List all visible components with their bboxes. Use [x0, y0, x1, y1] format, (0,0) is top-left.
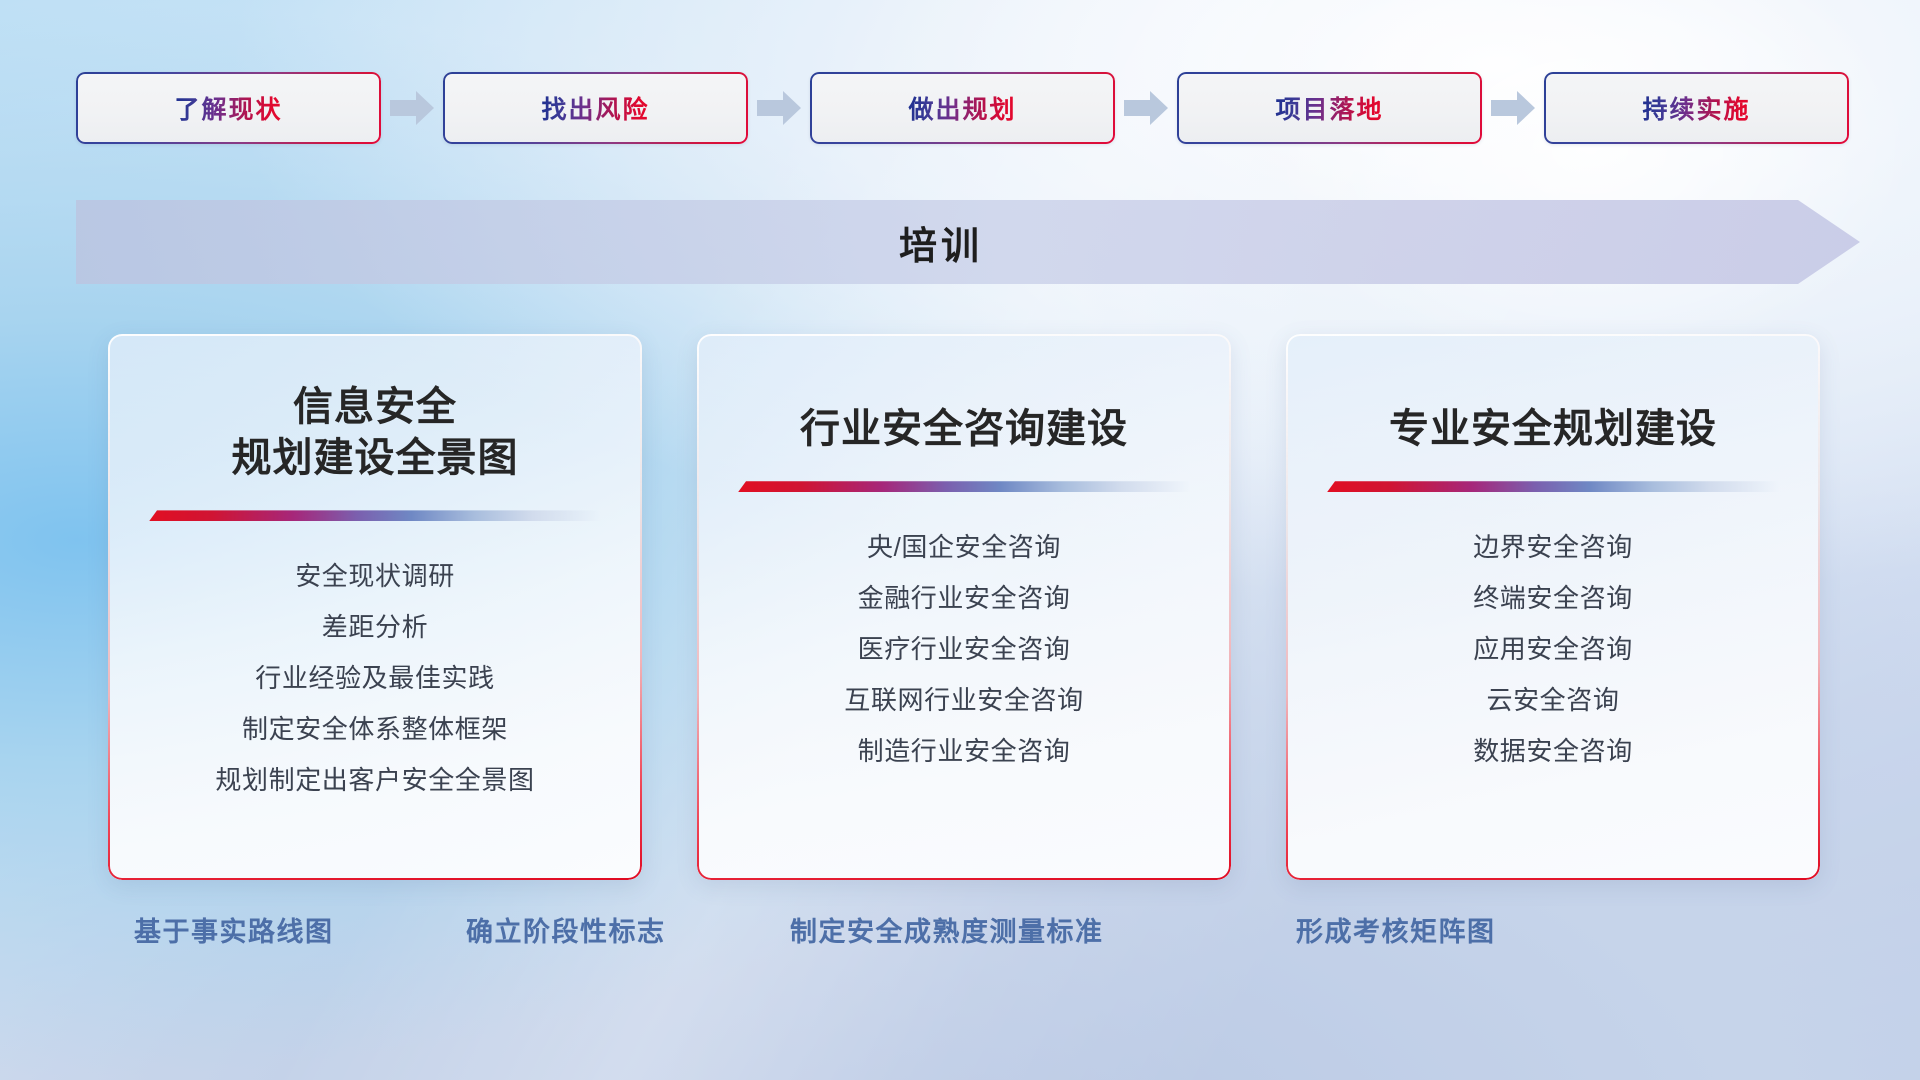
list-item: 制造行业安全咨询 [858, 726, 1071, 777]
card-industry-consulting[interactable]: 行业安全咨询建设 央/国企安全咨询 金融行业安全咨询 医疗行业安全咨询 互联网行… [697, 334, 1231, 880]
step-box-2[interactable]: 做出规划 [810, 72, 1115, 144]
slide-stage: 了解现状 找出风险 做出规划 [0, 0, 1920, 1080]
capability-cards: 信息安全 规划建设全景图 安全现状调研 差距分析 行业经验及最佳实践 制定安全体… [108, 334, 1820, 880]
step-label-3: 项目落地 [1275, 90, 1383, 126]
step-box-3[interactable]: 项目落地 [1177, 72, 1482, 144]
step-wrap-4: 持续实施 [1544, 72, 1849, 144]
list-item: 应用安全咨询 [1473, 624, 1633, 675]
card-divider-2 [1327, 481, 1779, 492]
list-item: 终端安全咨询 [1473, 573, 1633, 624]
card-title-2-line1: 专业安全规划建设 [1389, 404, 1717, 455]
list-item: 差距分析 [322, 602, 428, 653]
list-item: 云安全咨询 [1486, 675, 1619, 726]
list-item: 央/国企安全咨询 [867, 522, 1061, 573]
step-wrap-3: 项目落地 [1177, 72, 1544, 144]
list-item: 制定安全体系整体框架 [242, 704, 508, 755]
step-wrap-0: 了解现状 [76, 72, 443, 144]
outcome-captions: 基于事实路线图 确立阶段性标志 制定安全成熟度测量标准 形成考核矩阵图 [0, 910, 1920, 966]
card-list-2: 边界安全咨询 终端安全咨询 应用安全咨询 云安全咨询 数据安全咨询 [1473, 522, 1633, 777]
arrow-right-icon [1482, 72, 1544, 144]
card-title-2: 专业安全规划建设 [1389, 404, 1717, 455]
list-item: 规划制定出客户安全全景图 [215, 755, 534, 806]
card-title-1: 行业安全咨询建设 [800, 404, 1128, 455]
list-item: 互联网行业安全咨询 [844, 675, 1083, 726]
step-label-0: 了解现状 [174, 90, 282, 126]
step-wrap-2: 做出规划 [810, 72, 1177, 144]
card-list-0: 安全现状调研 差距分析 行业经验及最佳实践 制定安全体系整体框架 规划制定出客户… [215, 551, 534, 806]
list-item: 行业经验及最佳实践 [255, 653, 494, 704]
card-divider-1 [738, 481, 1190, 492]
list-item: 安全现状调研 [295, 551, 455, 602]
card-title-0: 信息安全 规划建设全景图 [232, 382, 519, 484]
caption-1: 确立阶段性标志 [466, 910, 666, 949]
list-item: 医疗行业安全咨询 [858, 624, 1071, 675]
card-title-0-line2: 规划建设全景图 [232, 433, 519, 484]
process-steps: 了解现状 找出风险 做出规划 [76, 72, 1844, 144]
banner-title: 培训 [76, 200, 1860, 284]
arrow-right-icon [1115, 72, 1177, 144]
step-wrap-1: 找出风险 [443, 72, 810, 144]
card-panorama[interactable]: 信息安全 规划建设全景图 安全现状调研 差距分析 行业经验及最佳实践 制定安全体… [108, 334, 642, 880]
step-box-4[interactable]: 持续实施 [1544, 72, 1849, 144]
step-box-1[interactable]: 找出风险 [443, 72, 748, 144]
arrow-right-icon [748, 72, 810, 144]
step-label-2: 做出规划 [908, 90, 1016, 126]
step-label-1: 找出风险 [541, 90, 649, 126]
training-banner: 培训 [76, 200, 1860, 284]
card-title-1-line1: 行业安全咨询建设 [800, 404, 1128, 455]
caption-2: 制定安全成熟度测量标准 [790, 910, 1104, 949]
step-label-4: 持续实施 [1642, 90, 1750, 126]
list-item: 数据安全咨询 [1473, 726, 1633, 777]
card-title-0-line1: 信息安全 [232, 382, 519, 433]
caption-3: 形成考核矩阵图 [1296, 910, 1496, 949]
card-professional-planning[interactable]: 专业安全规划建设 边界安全咨询 终端安全咨询 应用安全咨询 云安全咨询 数据安全… [1286, 334, 1820, 880]
step-box-0[interactable]: 了解现状 [76, 72, 381, 144]
arrow-right-icon [381, 72, 443, 144]
card-divider-0 [149, 510, 601, 521]
list-item: 边界安全咨询 [1473, 522, 1633, 573]
card-list-1: 央/国企安全咨询 金融行业安全咨询 医疗行业安全咨询 互联网行业安全咨询 制造行… [844, 522, 1083, 777]
list-item: 金融行业安全咨询 [858, 573, 1071, 624]
caption-0: 基于事实路线图 [134, 910, 334, 949]
